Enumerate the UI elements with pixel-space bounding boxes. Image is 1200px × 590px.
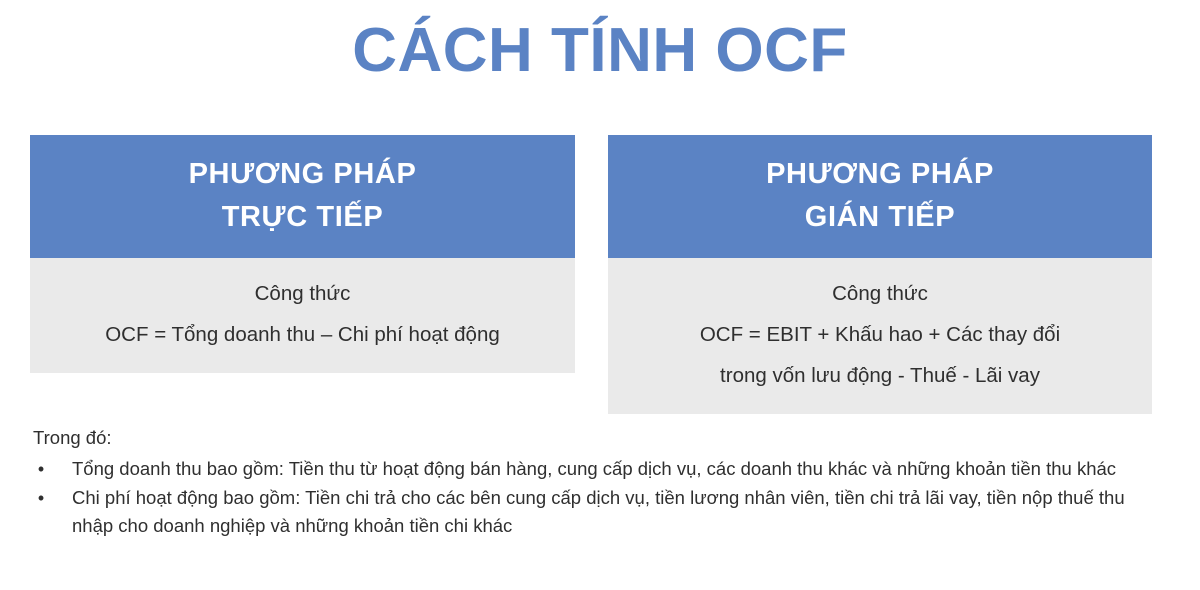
- bullet-point-icon: •: [36, 455, 46, 483]
- bullet-point-icon: •: [36, 484, 46, 512]
- method-card-direct-header-line-2: TRỰC TIẾP: [40, 196, 565, 239]
- method-card-indirect-header-line-1: PHƯƠNG PHÁP: [618, 153, 1142, 196]
- method-card-indirect-body: Công thức OCF = EBIT + Khấu hao + Các th…: [608, 258, 1152, 414]
- method-card-indirect-header-line-2: GIÁN TIẾP: [618, 196, 1142, 239]
- method-card-indirect-header: PHƯƠNG PHÁP GIÁN TIẾP: [608, 135, 1152, 258]
- method-card-direct-body: Công thức OCF = Tổng doanh thu – Chi phí…: [30, 258, 575, 373]
- list-item-text: Chi phí hoạt động bao gồm: Tiền chi trả …: [72, 487, 1125, 536]
- method-card-direct-caption: Công thức: [38, 273, 567, 314]
- method-card-indirect-caption: Công thức: [616, 273, 1144, 314]
- page-title: CÁCH TÍNH OCF: [0, 14, 1200, 88]
- list-item: • Chi phí hoạt động bao gồm: Tiền chi tr…: [33, 484, 1168, 540]
- method-card-direct: PHƯƠNG PHÁP TRỰC TIẾP Công thức OCF = Tổ…: [30, 135, 575, 373]
- method-card-indirect-formula-line-1: OCF = EBIT + Khấu hao + Các thay đổi: [616, 314, 1144, 355]
- method-card-indirect: PHƯƠNG PHÁP GIÁN TIẾP Công thức OCF = EB…: [608, 135, 1152, 414]
- method-card-direct-formula-line-1: OCF = Tổng doanh thu – Chi phí hoạt động: [38, 314, 567, 355]
- list-item: • Tổng doanh thu bao gồm: Tiền thu từ ho…: [33, 455, 1168, 483]
- notes-block: Trong đó: • Tổng doanh thu bao gồm: Tiền…: [33, 424, 1168, 541]
- notes-bullet-list: • Tổng doanh thu bao gồm: Tiền thu từ ho…: [33, 455, 1168, 540]
- notes-lead-label: Trong đó:: [33, 424, 1168, 452]
- list-item-text: Tổng doanh thu bao gồm: Tiền thu từ hoạt…: [72, 458, 1116, 479]
- method-card-direct-header: PHƯƠNG PHÁP TRỰC TIẾP: [30, 135, 575, 258]
- method-card-indirect-formula-line-2: trong vốn lưu động - Thuế - Lãi vay: [616, 355, 1144, 396]
- method-card-direct-header-line-1: PHƯƠNG PHÁP: [40, 153, 565, 196]
- slide-canvas: CÁCH TÍNH OCF PHƯƠNG PHÁP TRỰC TIẾP Công…: [0, 0, 1200, 590]
